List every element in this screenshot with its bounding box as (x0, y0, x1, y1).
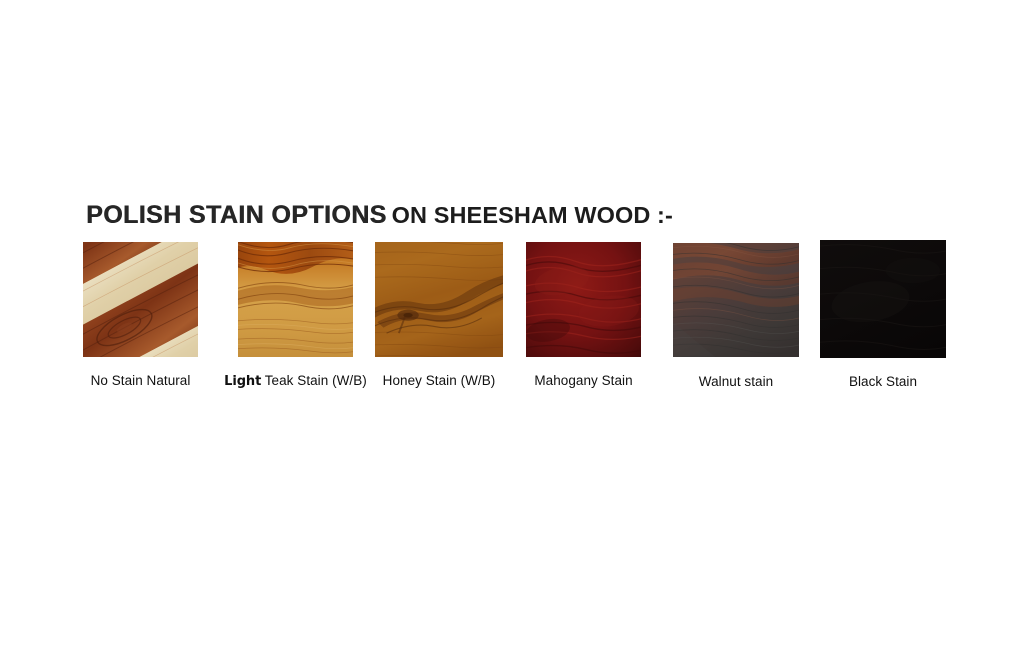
swatch-label-walnut-stain: Walnut stain (699, 374, 773, 389)
wood-grain-graphic (238, 242, 353, 357)
swatch-label-text: No Stain Natural (91, 373, 191, 388)
wood-swatch-light-teak-stain[interactable] (238, 242, 353, 357)
wood-grain-graphic (820, 240, 946, 358)
page-title-primary: POLISH STAIN OPTIONS (86, 201, 387, 229)
swatch-cell-black-stain[interactable]: Black Stain (820, 240, 946, 358)
wood-grain-graphic (375, 242, 503, 357)
swatch-label-black-stain: Black Stain (849, 374, 917, 389)
swatch-cell-honey-stain[interactable]: Honey Stain (W/B) (375, 242, 503, 357)
swatch-label-mahogany-stain: Mahogany Stain (534, 373, 632, 388)
swatch-label-text: Teak Stain (W/B) (261, 373, 367, 388)
wood-swatch-no-stain-natural[interactable] (83, 242, 198, 357)
swatch-label-light-teak-stain: Light Teak Stain (W/B) (224, 373, 367, 389)
swatch-label-text: Black Stain (849, 374, 917, 389)
swatch-cell-walnut-stain[interactable]: Walnut stain (673, 243, 799, 357)
wood-grain-graphic (673, 243, 799, 357)
wood-swatch-mahogany-stain[interactable] (526, 242, 641, 357)
swatch-label-text: Walnut stain (699, 374, 773, 389)
wood-swatch-walnut-stain[interactable] (673, 243, 799, 357)
swatch-label-accent: Light (224, 374, 261, 389)
wood-grain-graphic (526, 242, 641, 357)
stain-options-chart: POLISH STAIN OPTIONSON SHEESHAM WOOD :- (0, 0, 1021, 648)
swatch-label-text: Mahogany Stain (534, 373, 632, 388)
swatch-cell-light-teak-stain[interactable]: Light Teak Stain (W/B) (238, 242, 353, 357)
page-title: POLISH STAIN OPTIONSON SHEESHAM WOOD :- (86, 203, 673, 228)
swatch-cell-mahogany-stain[interactable]: Mahogany Stain (526, 242, 641, 357)
wood-swatch-honey-stain[interactable] (375, 242, 503, 357)
swatch-label-text: Honey Stain (W/B) (383, 373, 496, 388)
wood-grain-graphic (83, 242, 198, 357)
swatch-label-honey-stain: Honey Stain (W/B) (383, 373, 496, 388)
swatch-cell-no-stain-natural[interactable]: No Stain Natural (83, 242, 198, 357)
page-title-secondary: ON SHEESHAM WOOD :- (392, 202, 673, 228)
swatch-label-no-stain-natural: No Stain Natural (91, 373, 191, 388)
wood-swatch-black-stain[interactable] (820, 240, 946, 358)
